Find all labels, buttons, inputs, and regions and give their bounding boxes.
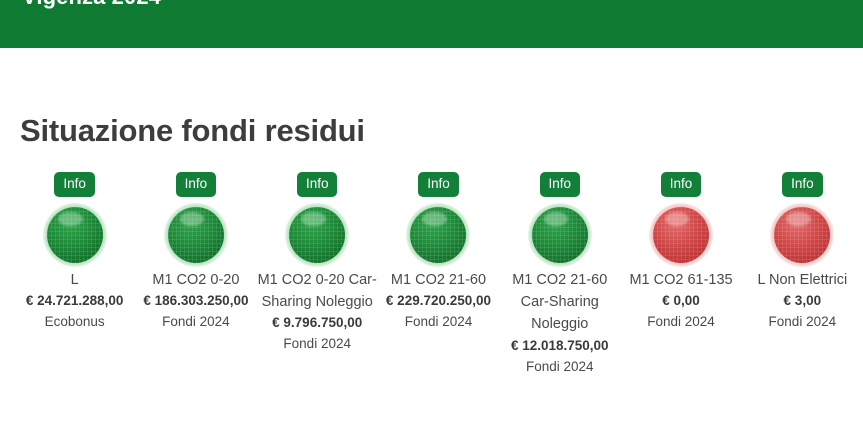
fund-category-label: M1 CO2 0-20 Car-Sharing Noleggio (257, 269, 378, 314)
fund-category-label: M1 CO2 21-60 Car-Sharing Noleggio (499, 269, 620, 336)
fund-source-label: Fondi 2024 (283, 334, 351, 355)
info-button[interactable]: Info (661, 172, 702, 197)
fund-category-label: M1 CO2 21-60 (391, 269, 486, 291)
fund-amount-value: € 186.303.250,00 (143, 291, 248, 312)
lamp-highlight (58, 212, 83, 227)
info-button[interactable]: Info (540, 172, 581, 197)
fund-source-label: Fondi 2024 (405, 312, 473, 333)
fund-source-label: Fondi 2024 (526, 357, 594, 378)
info-button[interactable]: Info (297, 172, 338, 197)
fund-status-column: InfoM1 CO2 21-60 Car-Sharing Noleggio€ 1… (499, 172, 620, 378)
fund-amount-value: € 24.721.288,00 (26, 291, 124, 312)
fund-amount-value: € 3,00 (784, 291, 822, 312)
fund-source-label: Fondi 2024 (769, 312, 837, 333)
fund-category-label: M1 CO2 61-135 (629, 269, 732, 291)
lamp-highlight (180, 212, 205, 227)
status-lamp-green-icon (47, 207, 103, 263)
funds-status-row: InfoL€ 24.721.288,00EcobonusInfoM1 CO2 0… (14, 172, 863, 378)
info-button[interactable]: Info (54, 172, 95, 197)
fund-category-label: M1 CO2 0-20 (152, 269, 239, 291)
fund-category-label: L Non Elettrici (757, 269, 847, 291)
header-title: Vigenza 2024 (22, 0, 161, 10)
fund-amount-value: € 229.720.250,00 (386, 291, 491, 312)
fund-status-column: InfoL€ 24.721.288,00Ecobonus (14, 172, 135, 333)
fund-category-label: L (71, 269, 79, 291)
fund-status-column: InfoL Non Elettrici€ 3,00Fondi 2024 (742, 172, 863, 333)
fund-amount-value: € 12.018.750,00 (511, 336, 609, 357)
status-lamp-green-icon (289, 207, 345, 263)
fund-source-label: Fondi 2024 (647, 312, 715, 333)
status-lamp-red-icon (774, 207, 830, 263)
info-button[interactable]: Info (176, 172, 217, 197)
lamp-highlight (301, 212, 326, 227)
info-button[interactable]: Info (782, 172, 823, 197)
status-lamp-green-icon (532, 207, 588, 263)
fund-amount-value: € 9.796.750,00 (272, 313, 362, 334)
status-lamp-red-icon (653, 207, 709, 263)
page-title: Situazione fondi residui (20, 113, 365, 149)
lamp-highlight (422, 212, 447, 227)
fund-status-column: InfoM1 CO2 0-20€ 186.303.250,00Fondi 202… (135, 172, 256, 333)
fund-source-label: Ecobonus (45, 312, 105, 333)
fund-status-column: InfoM1 CO2 0-20 Car-Sharing Noleggio€ 9.… (257, 172, 378, 355)
lamp-highlight (544, 212, 569, 227)
lamp-highlight (786, 212, 811, 227)
status-lamp-green-icon (410, 207, 466, 263)
fund-status-column: InfoM1 CO2 61-135€ 0,00Fondi 2024 (620, 172, 741, 333)
fund-amount-value: € 0,00 (662, 291, 700, 312)
fund-source-label: Fondi 2024 (162, 312, 230, 333)
fund-status-column: InfoM1 CO2 21-60€ 229.720.250,00Fondi 20… (378, 172, 499, 333)
info-button[interactable]: Info (418, 172, 459, 197)
status-lamp-green-icon (168, 207, 224, 263)
header-band: Vigenza 2024 (0, 0, 863, 48)
